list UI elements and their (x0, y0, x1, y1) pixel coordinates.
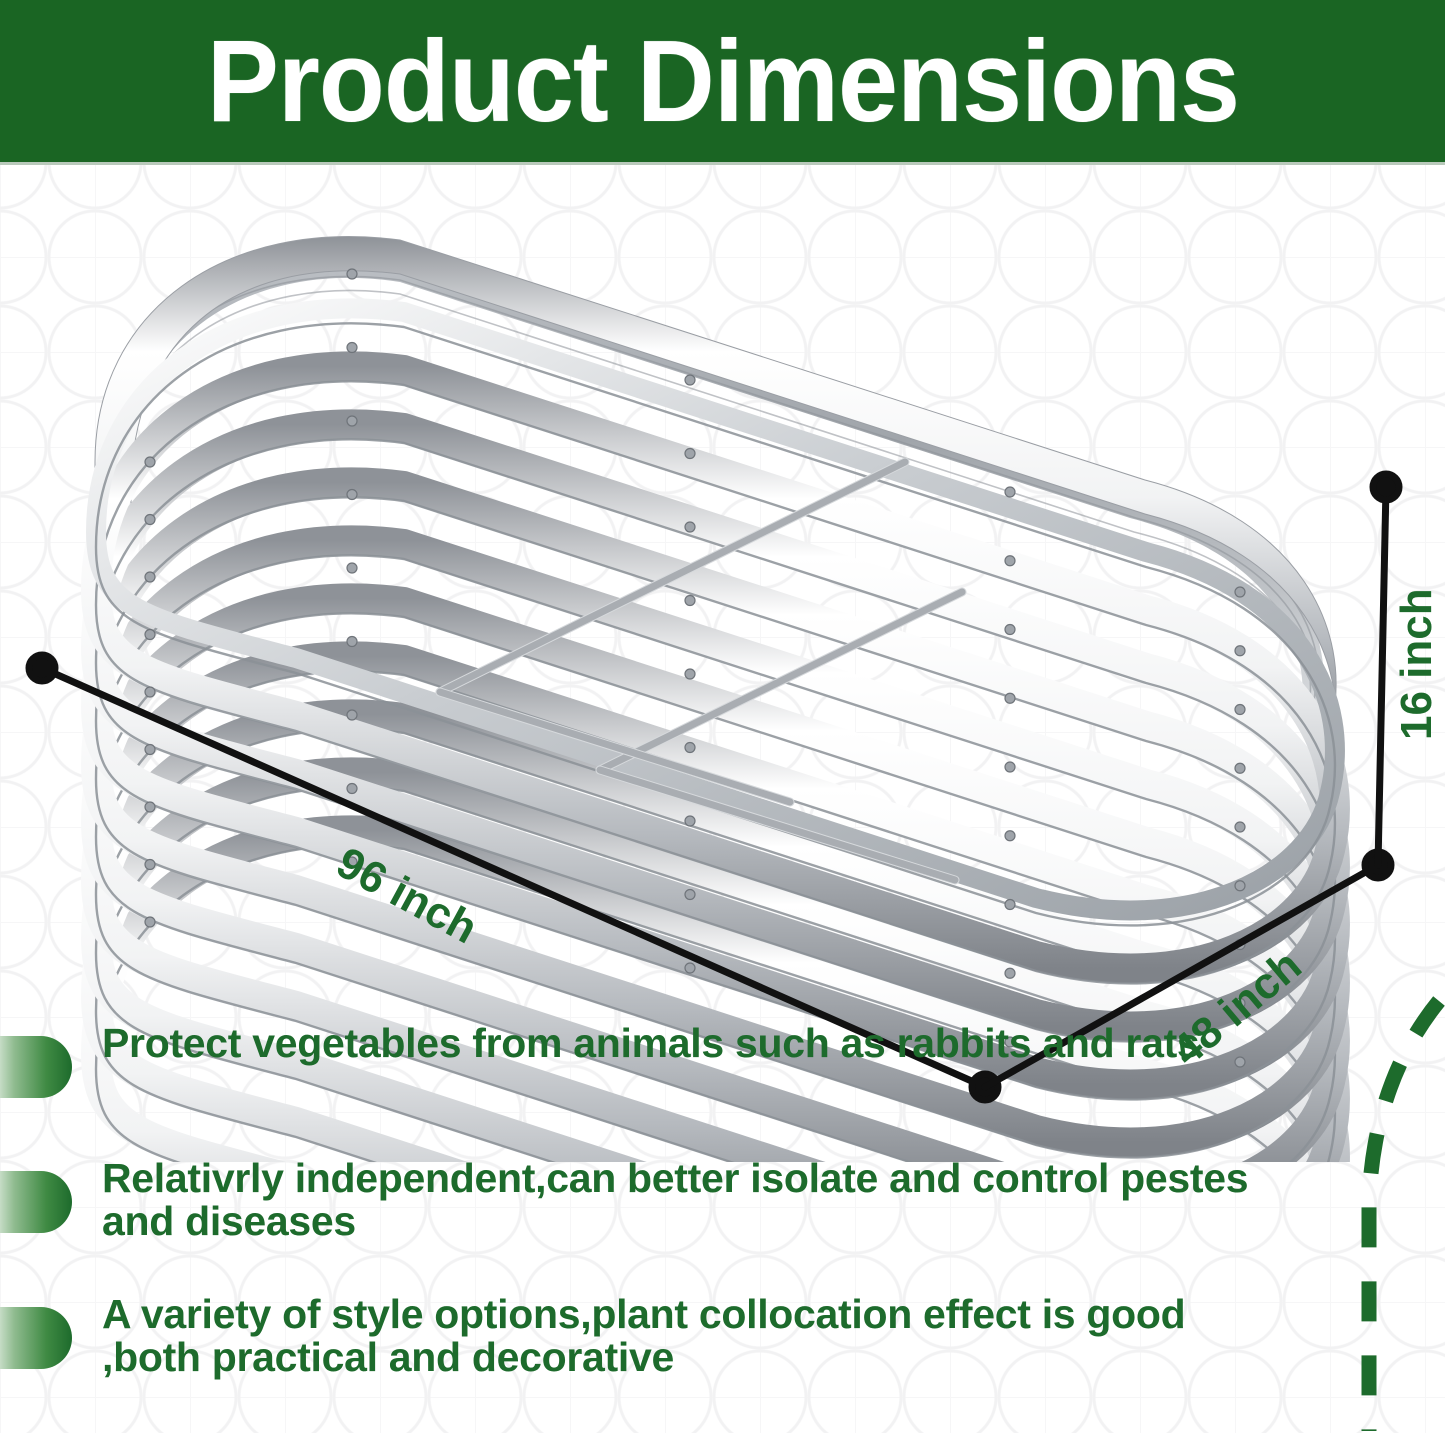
dimension-endpoint-16-top (1373, 474, 1399, 500)
list-item: Relativrly independent,can better isolat… (0, 1157, 1445, 1244)
list-item: Protect vegetables from animals such as … (0, 1022, 1445, 1108)
feature-text: A variety of style options,plant colloca… (102, 1293, 1282, 1380)
dimension-line-16 (1378, 487, 1386, 865)
bullet-pill-icon (0, 1171, 72, 1233)
bullet-pill-icon (0, 1036, 72, 1098)
page-title: Product Dimensions (206, 23, 1238, 139)
feature-text: Protect vegetables from animals such as … (102, 1022, 1199, 1065)
header-underline (0, 162, 1445, 165)
feature-text: Relativrly independent,can better isolat… (102, 1157, 1282, 1244)
header-banner: Product Dimensions (0, 0, 1445, 162)
list-item: A variety of style options,plant colloca… (0, 1293, 1445, 1380)
dimension-endpoint-96-start (29, 655, 55, 681)
dimension-label-height: 16 inch (1392, 588, 1442, 740)
bullet-pill-icon (0, 1307, 72, 1369)
feature-list: Protect vegetables from animals such as … (0, 1022, 1445, 1429)
